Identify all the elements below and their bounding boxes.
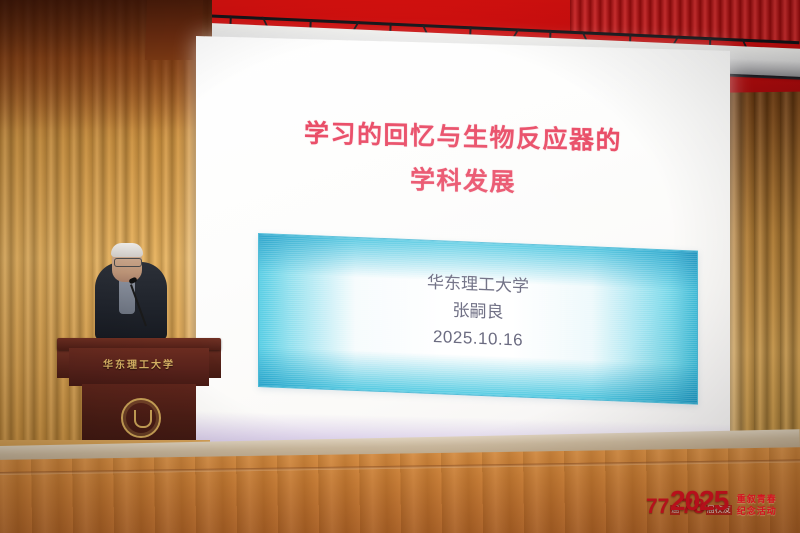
watermark-slogan-line-2: 纪念活动 [737,505,777,517]
watermark-big-year: 2025 [670,487,728,515]
event-watermark: 77 届 78 届校友 2025 重叙青春 纪念活动 [646,485,792,525]
watermark-year-77: 77 [646,496,669,517]
podium-nameplate: 华东理工大学 [69,356,209,371]
watermark-slogan-line-1: 重叙青春 [737,493,777,505]
slide-title-line-2: 学科发展 [196,153,730,210]
slide-info-panel-text: 华东理工大学 张嗣良 2025.10.16 [259,262,697,361]
slide-info-panel: 华东理工大学 张嗣良 2025.10.16 [258,233,698,405]
eyeglasses-icon [114,258,142,267]
podium-front-face: 华东理工大学 [69,348,209,386]
speaker-hair [111,243,143,257]
auditorium-stage-photo: 学习的回忆与生物反应器的 学科发展 华东理工大学 张嗣良 2025.10.16 [0,0,800,533]
projection-screen: 学习的回忆与生物反应器的 学科发展 华东理工大学 张嗣良 2025.10.16 [196,36,730,459]
wall-panel-top-left [145,0,203,60]
slide-title: 学习的回忆与生物反应器的 学科发展 [196,109,730,210]
slide-title-line-1: 学习的回忆与生物反应器的 [304,120,622,156]
university-crest-emblem-icon [121,398,161,438]
podium-and-speaker: 华东理工大学 [57,244,221,460]
watermark-slogan: 重叙青春 纪念活动 [737,493,777,517]
